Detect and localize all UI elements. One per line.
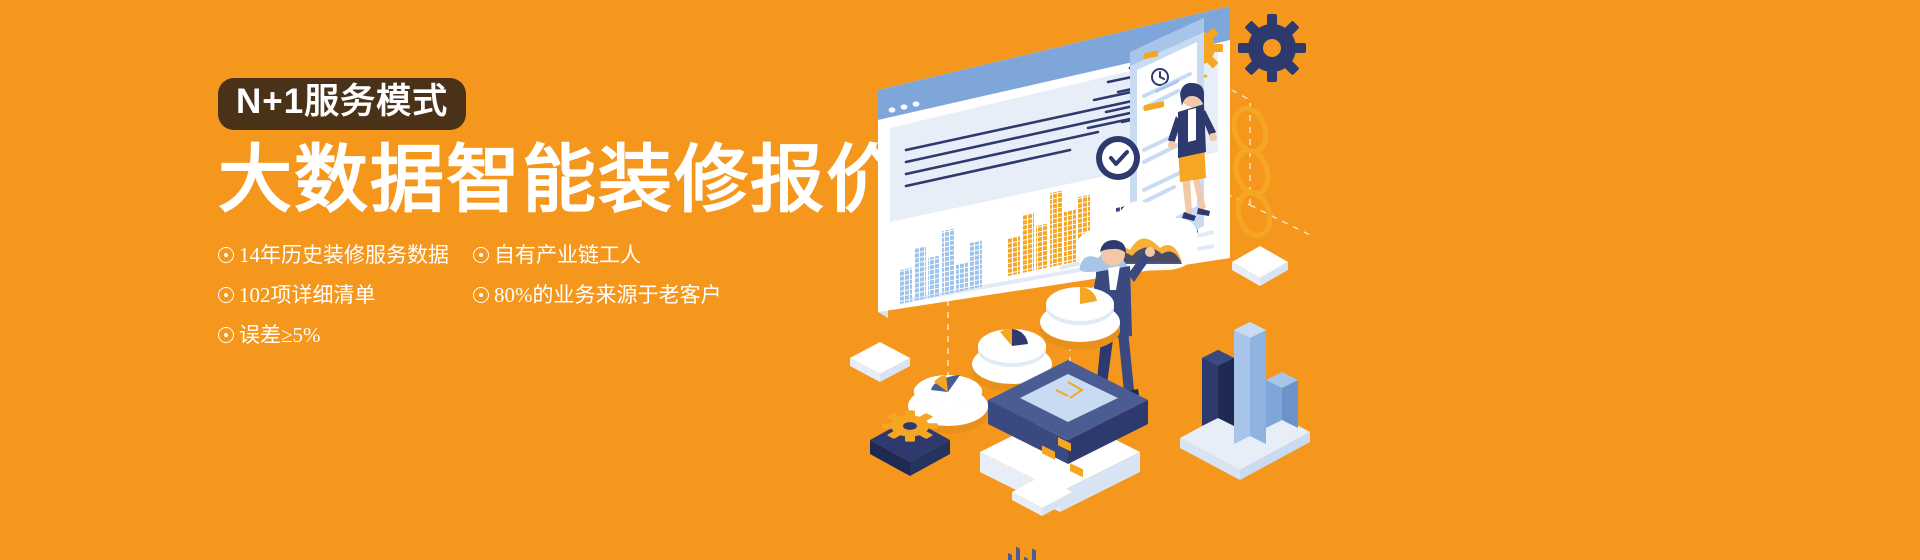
bar-chart-mini: [1008, 547, 1036, 560]
checkmark-badge: [1096, 136, 1140, 180]
isometric-big-data-dashboard-illustration: [830, 0, 1390, 560]
rings-stack: [1229, 104, 1275, 239]
list-item-label: 102项详细清单: [239, 284, 376, 307]
feature-column-left: 14年历史装修服务数据 102项详细清单 误差≥5%: [218, 244, 473, 364]
floating-tile-left: [850, 342, 910, 382]
circled-dot-icon: [218, 327, 234, 343]
feature-column-right: 自有产业链工人 80%的业务来源于老客户: [473, 244, 773, 324]
gear-large: [1238, 14, 1306, 82]
circled-dot-icon: [473, 247, 489, 263]
list-item-label: 80%的业务来源于老客户: [494, 284, 722, 307]
bar-chart-columns: [1180, 322, 1310, 480]
list-item: 102项详细清单: [218, 284, 473, 307]
promo-banner: N+1服务模式 大数据智能装修报价 14年历史装修服务数据 102项详细清单 误…: [0, 0, 1920, 560]
list-item: 误差≥5%: [218, 324, 473, 347]
list-item: 14年历史装修服务数据: [218, 244, 473, 267]
circled-dot-icon: [218, 247, 234, 263]
list-item: 80%的业务来源于老客户: [473, 284, 773, 307]
list-item-label: 误差≥5%: [239, 324, 321, 347]
service-model-badge: N+1服务模式: [218, 78, 466, 130]
list-item: 自有产业链工人: [473, 244, 773, 267]
floating-tile-right: [1232, 246, 1288, 286]
circled-dot-icon: [473, 287, 489, 303]
circled-dot-icon: [218, 287, 234, 303]
list-item-label: 自有产业链工人: [494, 244, 641, 267]
list-item-label: 14年历史装修服务数据: [239, 244, 449, 267]
